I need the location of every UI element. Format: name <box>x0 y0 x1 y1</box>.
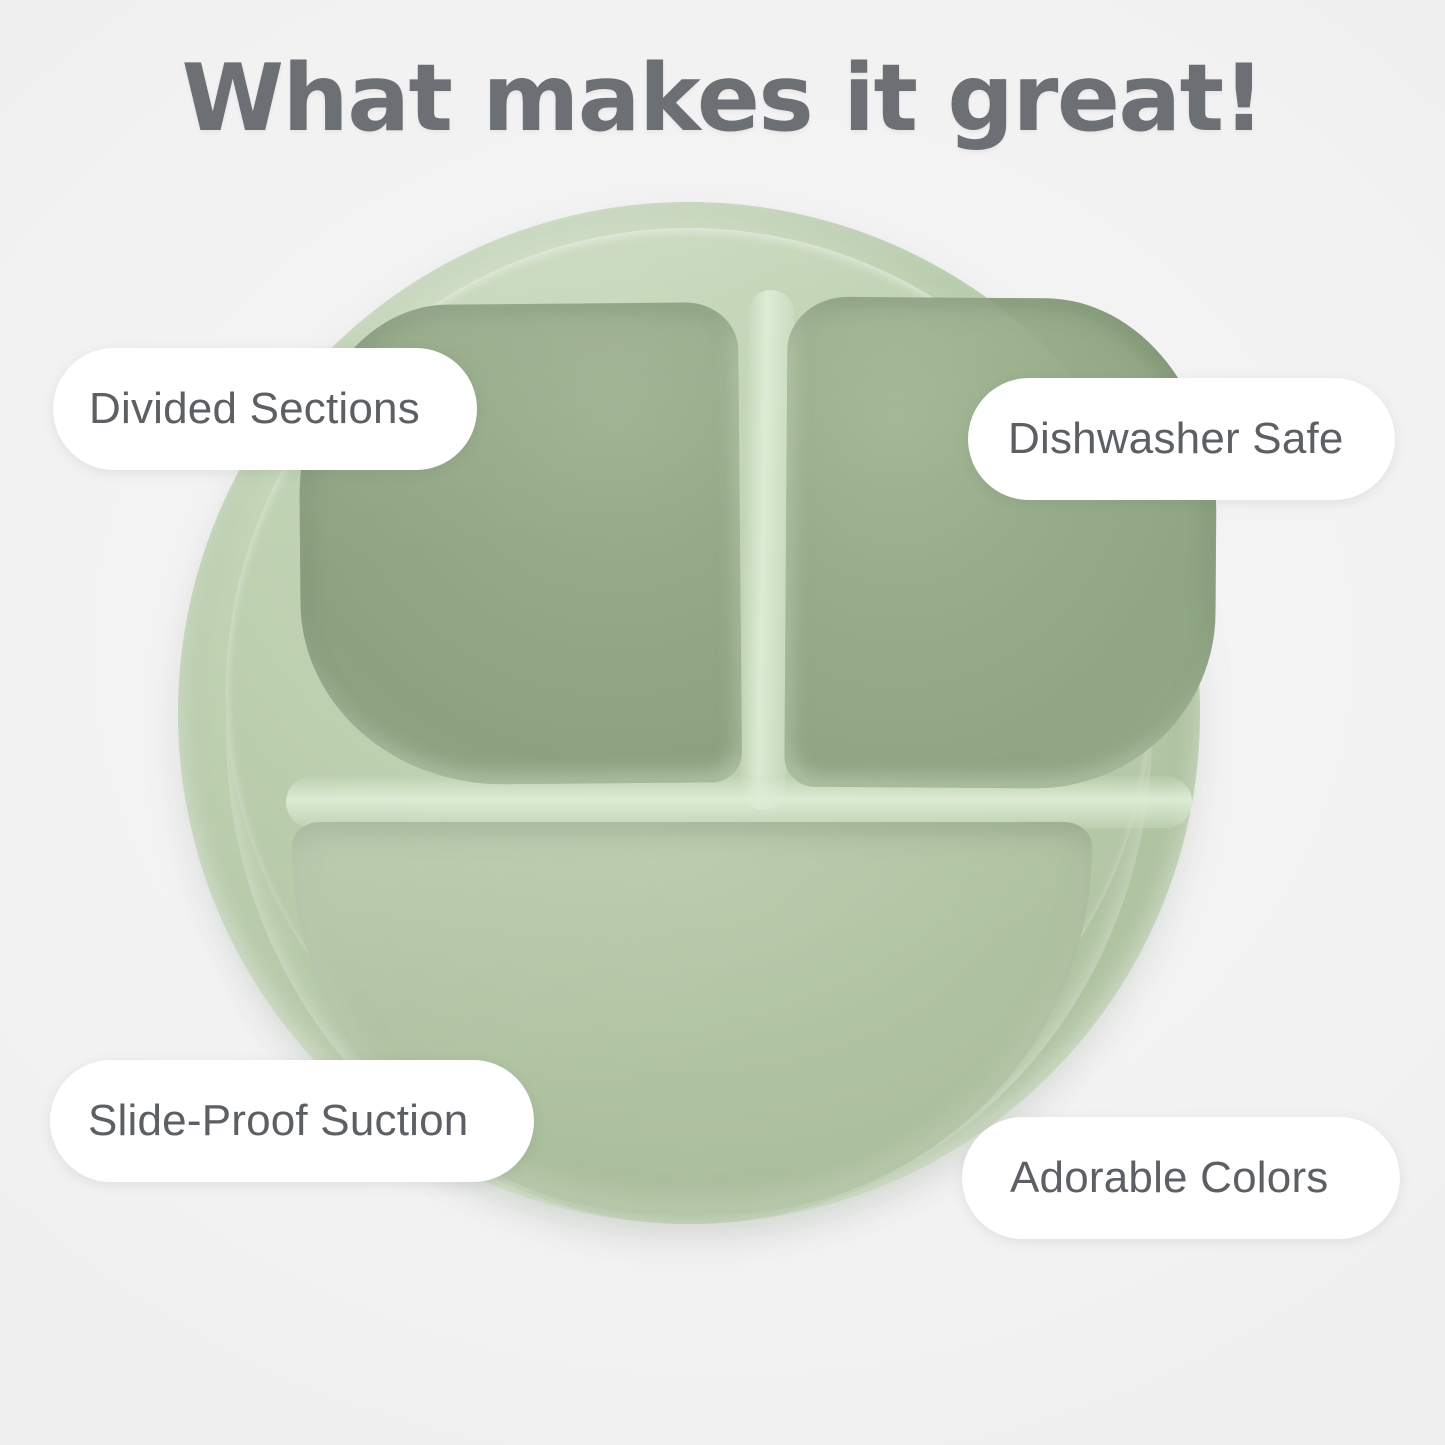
page-title: What makes it great! <box>0 44 1445 152</box>
feature-label-dishwasher-safe: Dishwasher Safe <box>1008 414 1344 464</box>
feature-label-divided-sections: Divided Sections <box>89 384 420 434</box>
feature-pill-adorable-colors: Adorable Colors <box>962 1117 1400 1239</box>
feature-pill-slide-proof-suction: Slide-Proof Suction <box>50 1060 534 1182</box>
feature-pill-divided-sections: Divided Sections <box>53 348 477 470</box>
feature-pill-dishwasher-safe: Dishwasher Safe <box>968 378 1395 500</box>
feature-label-adorable-colors: Adorable Colors <box>1010 1153 1329 1203</box>
feature-label-slide-proof-suction: Slide-Proof Suction <box>88 1096 468 1146</box>
promo-graphic-canvas: What makes it great! Divided Sections Di… <box>0 0 1445 1445</box>
plate-compartment-top-right <box>784 297 1217 790</box>
